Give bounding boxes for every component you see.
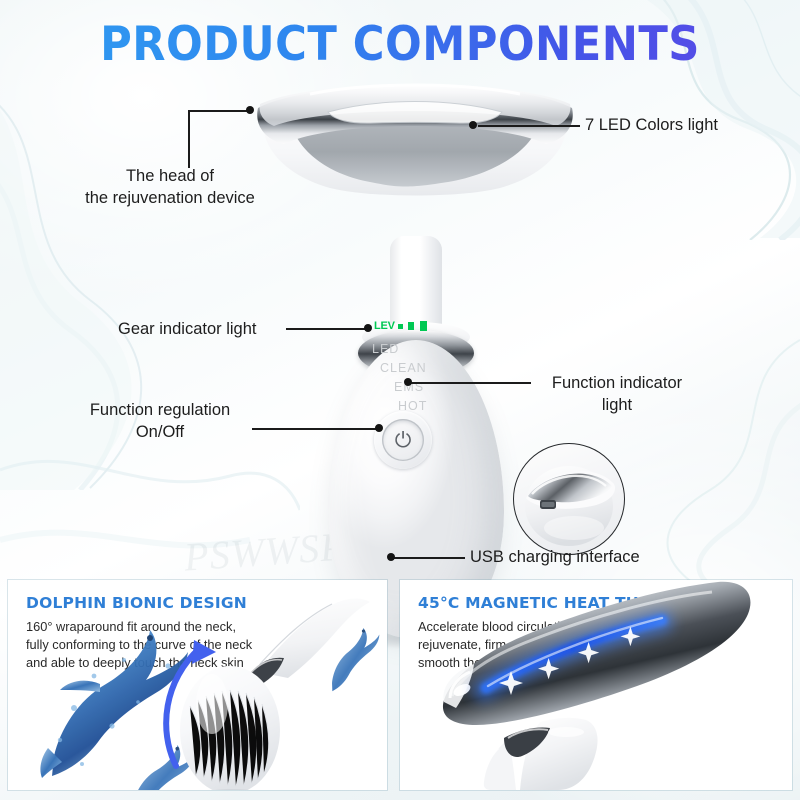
- heat-wand-illustration: [400, 580, 792, 790]
- leader-line-gear: [286, 328, 368, 330]
- power-button[interactable]: ⏻: [374, 411, 432, 469]
- leader-dot-usb: [387, 553, 395, 561]
- leader-line-led: [478, 125, 580, 127]
- leader-dot-regulation: [375, 424, 383, 432]
- power-icon: ⏻: [382, 419, 424, 461]
- panel-dolphin-bionic-design: DOLPHIN BIONIC DESIGN 160° wraparound fi…: [8, 580, 387, 790]
- function-label-led: LED: [372, 340, 427, 359]
- leader-line-head-horizontal: [188, 110, 250, 112]
- level-bar-1: [398, 324, 403, 329]
- leader-dot-function-indicator: [404, 378, 412, 386]
- function-indicator-labels: LED CLEAN EMS HOT: [372, 340, 427, 416]
- leader-dot-led: [469, 121, 477, 129]
- gear-indicator-lights: LEV: [374, 320, 427, 332]
- callout-head-of-device: The head of the rejuvenation device: [40, 165, 300, 210]
- callout-usb-charging-interface: USB charging interface: [470, 546, 710, 568]
- usb-port-closeup-inset: [513, 443, 625, 555]
- panel-magnetic-heat-therapy: 45°C MAGNETIC HEAT THERAPY Accelerate bl…: [400, 580, 792, 790]
- dolphin-illustration: [8, 580, 387, 790]
- level-bar-3: [420, 321, 427, 331]
- callout-gear-indicator-light: Gear indicator light: [118, 318, 298, 340]
- leader-dot-head: [246, 106, 254, 114]
- leader-line-usb: [391, 557, 465, 559]
- infographic-canvas: PRODUCT COMPONENTS PSWWSP: [0, 0, 800, 800]
- function-label-clean: CLEAN: [380, 359, 427, 378]
- leader-line-head-vertical: [188, 110, 190, 168]
- callout-function-regulation: Function regulation On/Off: [62, 399, 258, 444]
- leader-dot-gear: [364, 324, 372, 332]
- callout-function-indicator-light: Function indicator light: [537, 372, 697, 417]
- level-bar-2: [408, 322, 414, 330]
- level-label: LEV: [374, 320, 395, 332]
- leader-line-regulation: [252, 428, 380, 430]
- leader-line-function-indicator: [408, 382, 531, 384]
- callout-led-colors: 7 LED Colors light: [585, 114, 795, 136]
- page-title: PRODUCT COMPONENTS: [32, 17, 768, 72]
